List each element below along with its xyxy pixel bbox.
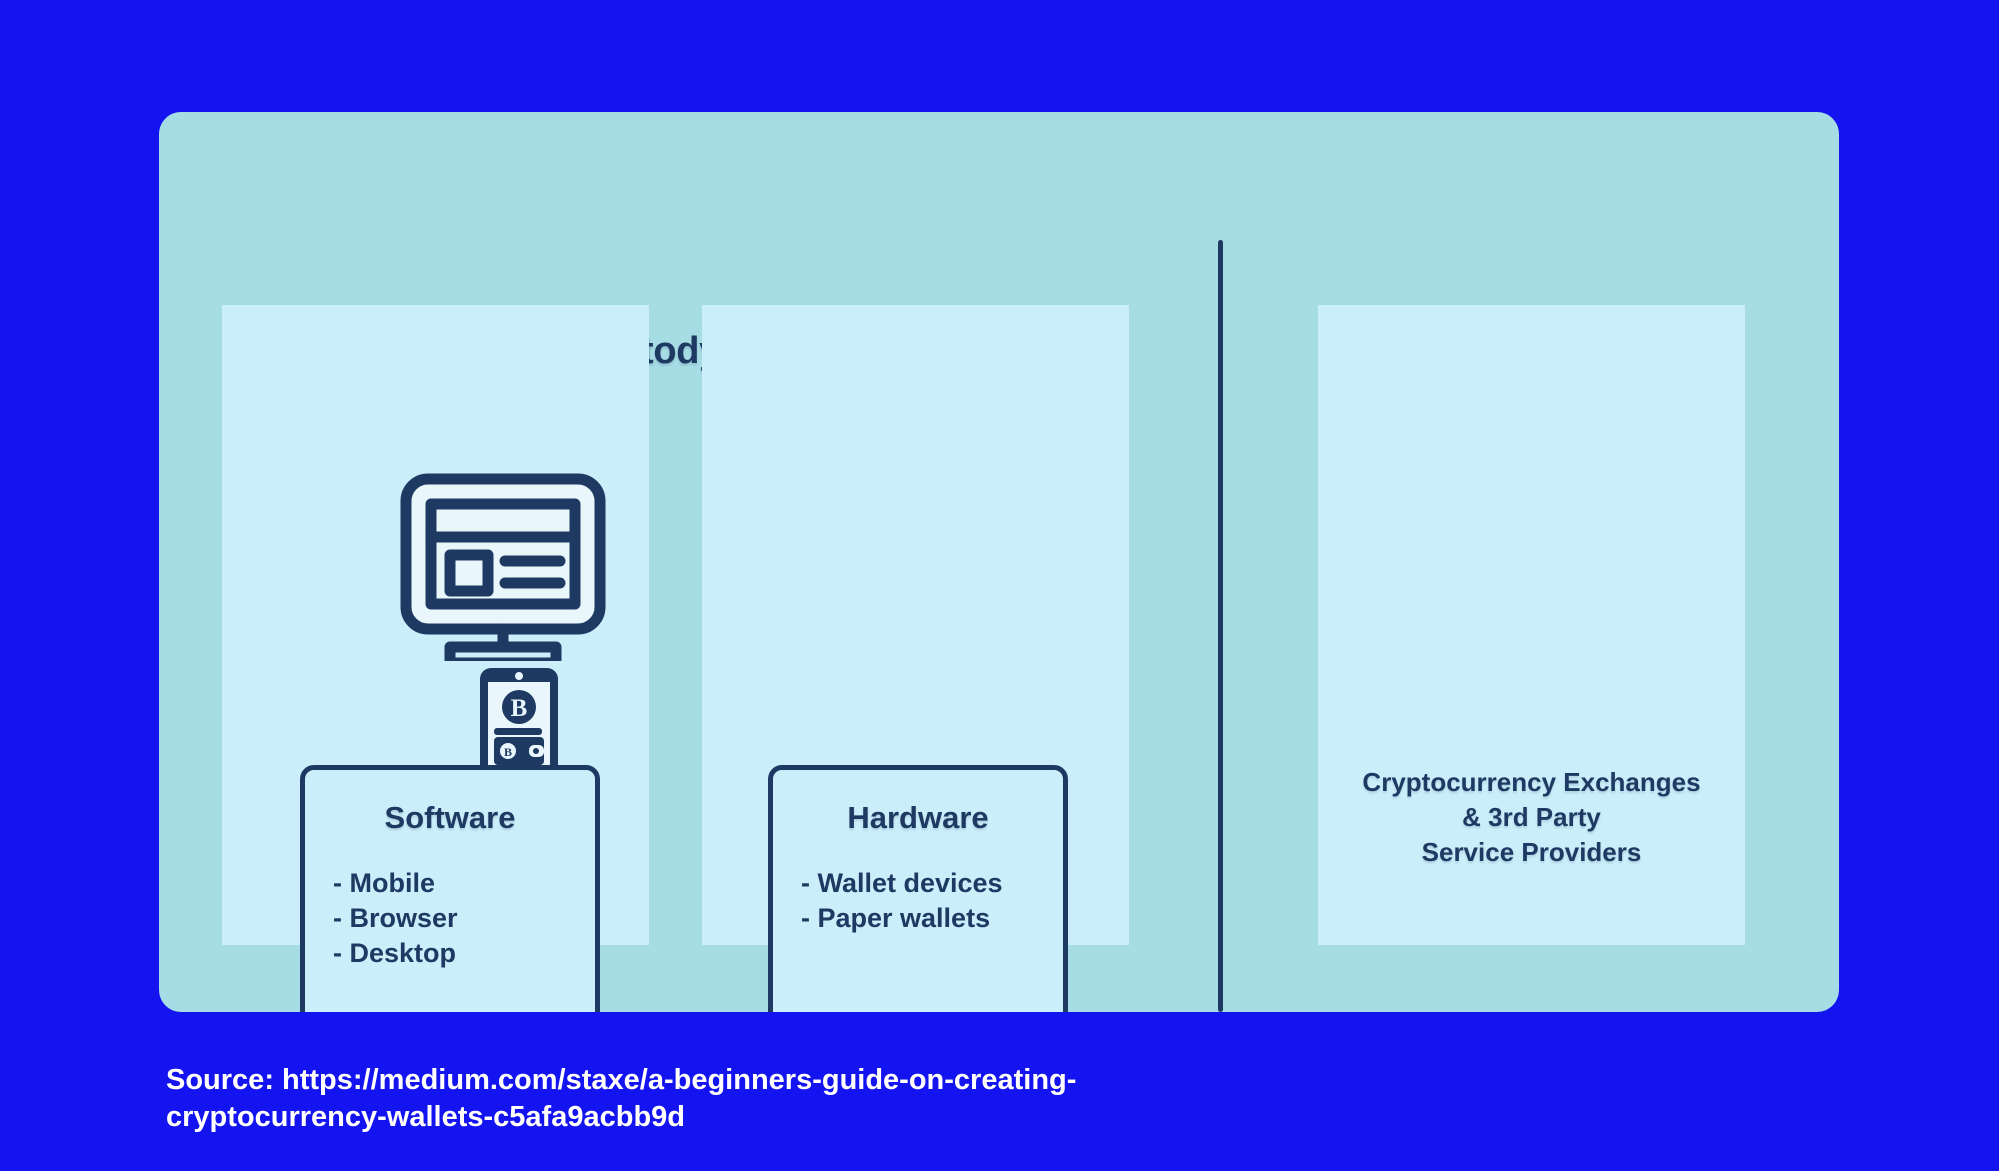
desktop-monitor-icon — [398, 471, 608, 666]
label-box-software: Software - Mobile - Browser - Desktop — [300, 765, 600, 1012]
source-attribution: Source: https://medium.com/staxe/a-begin… — [166, 1062, 1366, 1136]
svg-text:B: B — [504, 745, 512, 759]
list-item: - Browser — [333, 901, 595, 936]
vertical-divider — [1218, 240, 1223, 1012]
list-item: - Desktop — [333, 936, 595, 971]
list-item: - Wallet devices — [801, 866, 1063, 901]
box-title-software: Software — [305, 800, 595, 836]
list-item: - Paper wallets — [801, 901, 1063, 936]
label-box-hardware: Hardware - Wallet devices - Paper wallet… — [768, 765, 1068, 1012]
svg-text:B: B — [511, 695, 528, 722]
bullet-list-hardware: - Wallet devices - Paper wallets — [801, 866, 1063, 936]
list-item: - Mobile — [333, 866, 595, 901]
box-title-hardware: Hardware — [773, 800, 1063, 836]
bullet-list-software: - Mobile - Browser - Desktop — [333, 866, 595, 970]
infographic-card: Self -Custody Wallets Hosted Wallets — [159, 112, 1839, 1012]
source-line-2: cryptocurrency-wallets-c5afa9acbb9d — [166, 1099, 1366, 1136]
caption-line: Service Providers — [1318, 835, 1745, 870]
caption-line: & 3rd Party — [1318, 800, 1745, 835]
hosted-caption: Cryptocurrency Exchanges & 3rd Party Ser… — [1318, 765, 1745, 870]
source-line-1: Source: https://medium.com/staxe/a-begin… — [166, 1062, 1366, 1099]
caption-line: Cryptocurrency Exchanges — [1318, 765, 1745, 800]
